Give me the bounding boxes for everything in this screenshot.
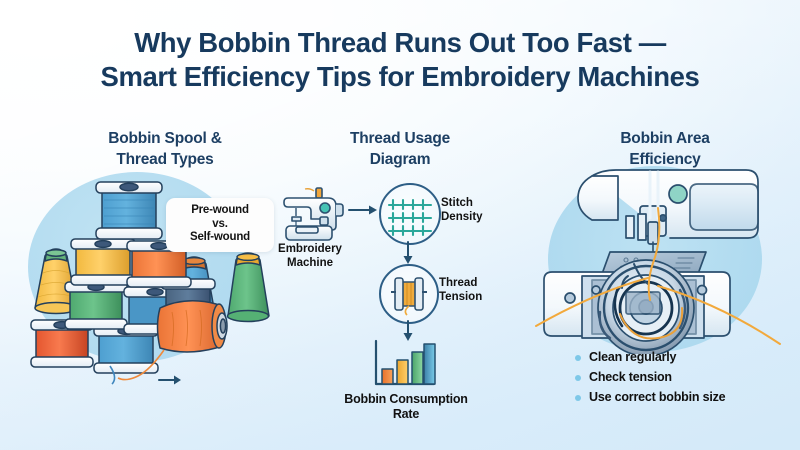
title-line-2: Smart Efficiency Tips for Embroidery Mac… <box>0 60 800 94</box>
label-thread-tension: Thread Tension <box>439 277 511 304</box>
page-title: Why Bobbin Thread Runs Out Too Fast — Sm… <box>0 26 800 94</box>
tip-label: Check tension <box>589 370 672 385</box>
bullet-dot-icon <box>575 375 581 381</box>
list-item: Check tension <box>575 370 800 385</box>
panel-bobbin-area-efficiency: Clean regularly Check tension Use correc… <box>520 160 800 430</box>
efficiency-tips-list: Clean regularly Check tension Use correc… <box>575 350 800 410</box>
bobbin-spool-icon <box>381 266 437 322</box>
label-stitch-density: Stitch Density <box>441 197 511 224</box>
column-heading-middle-line-2: Diagram <box>280 149 520 170</box>
label-thread-tension-line-1: Thread <box>439 277 511 291</box>
spool-cone-orange-lying <box>158 301 228 352</box>
label-stitch-density-line-1: Stitch <box>441 197 511 211</box>
arrow-to-callout-icon <box>158 373 184 387</box>
bullet-dot-icon <box>575 355 581 361</box>
stitch-grid-icon <box>381 185 439 243</box>
column-heading-right-line-2: Efficiency <box>540 149 790 170</box>
list-item: Use correct bobbin size <box>575 390 800 405</box>
callout-line-2: vs. <box>171 218 269 232</box>
title-line-1: Why Bobbin Thread Runs Out Too Fast — <box>134 27 666 58</box>
label-embroidery-machine-line-2: Machine <box>258 257 362 271</box>
infographic-canvas: Why Bobbin Thread Runs Out Too Fast — Sm… <box>0 0 800 450</box>
column-heading-middle: Thread Usage Diagram <box>280 128 520 170</box>
spool-green-mid <box>65 282 127 329</box>
spool-yellow-row2 <box>71 239 135 285</box>
bar-chart-icon <box>368 339 442 389</box>
label-thread-tension-line-2: Tension <box>439 291 511 305</box>
list-item: Clean regularly <box>575 350 800 365</box>
column-heading-right: Bobbin Area Efficiency <box>540 128 790 170</box>
tip-label: Use correct bobbin size <box>589 390 725 405</box>
bullet-dot-icon <box>575 395 581 401</box>
node-stitch-density <box>379 183 441 245</box>
label-stitch-density-line-2: Density <box>441 211 511 225</box>
column-heading-right-line-1: Bobbin Area <box>540 128 790 149</box>
label-bobbin-consumption-rate-line-1: Bobbin Consumption <box>330 392 482 407</box>
label-embroidery-machine: Embroidery Machine <box>258 243 362 270</box>
tip-label: Clean regularly <box>589 350 676 365</box>
label-bobbin-consumption-rate-line-2: Rate <box>330 407 482 422</box>
callout-line-3: Self-wound <box>171 231 269 245</box>
node-thread-tension <box>379 264 439 324</box>
panel-bobbin-spool-thread-types <box>14 160 290 390</box>
spool-blue-top <box>96 182 162 239</box>
label-bobbin-consumption-rate: Bobbin Consumption Rate <box>330 392 482 422</box>
column-heading-middle-line-1: Thread Usage <box>280 128 520 149</box>
sewing-machine-bobbin-area-illustration <box>530 168 796 354</box>
thread-spools-illustration <box>14 160 290 390</box>
column-heading-left-line-2: Thread Types <box>25 149 305 170</box>
column-heading-left: Bobbin Spool & Thread Types <box>25 128 305 170</box>
sewing-machine-icon <box>272 186 346 248</box>
callout-prewound-vs-selfwound: Pre-wound vs. Self-wound <box>166 198 274 252</box>
callout-line-1: Pre-wound <box>171 204 269 218</box>
arrow-machine-to-stitch-icon <box>348 203 380 217</box>
column-heading-left-line-1: Bobbin Spool & <box>25 128 305 149</box>
